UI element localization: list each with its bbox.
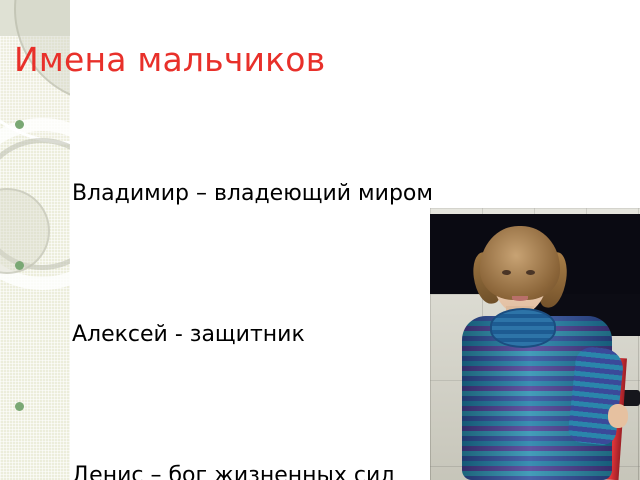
list-item-label: Денис – бог жизненных сил природы, бог в… — [30, 463, 394, 480]
mouth — [512, 296, 528, 301]
eye-left — [502, 270, 511, 275]
presentation-slide: Имена мальчиков Владимир – владеющий мир… — [0, 0, 640, 480]
hair-top — [480, 226, 560, 300]
bullet-icon — [15, 402, 24, 411]
slide-title: Имена мальчиков — [14, 40, 614, 80]
bullet-icon — [15, 261, 24, 270]
eye-right — [526, 270, 535, 275]
list-item-label: Алексей - защитник — [72, 322, 305, 347]
list-item-label: Владимир – владеющий миром — [72, 181, 433, 206]
hand — [608, 404, 628, 428]
bullet-icon — [15, 120, 24, 129]
sweater-collar — [490, 308, 556, 348]
photo-boy-in-sweater — [430, 208, 640, 480]
sweater-sleeve-right — [567, 346, 625, 446]
